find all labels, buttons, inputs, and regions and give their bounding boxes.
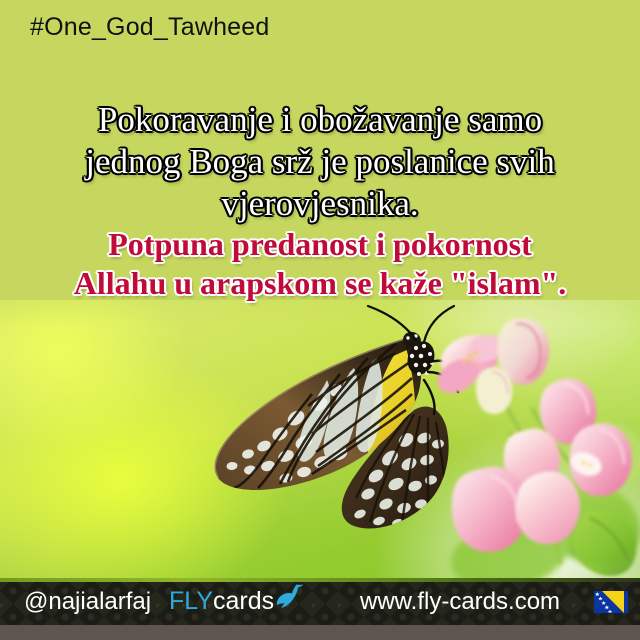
bird-icon [275,583,305,609]
bottom-strip [0,625,640,640]
quote-line-white-3: vjerovjesnika. [0,184,640,226]
flowers-image [440,312,640,580]
brand-fly-text: FLY [169,587,213,616]
flycards-logo[interactable]: FLYcards [169,587,305,616]
author-handle[interactable]: @najialarfaj [24,588,151,616]
quote-line-white-2: jednog Boga srž je poslanice svih [0,142,640,184]
website-url[interactable]: www.fly-cards.com [360,588,560,616]
quote-line-red-1: Potpuna predanost i pokornost [0,226,640,265]
quote-block: Pokoravanje i obožavanje samo jednog Bog… [0,100,640,304]
brand-cards-text: cards [213,587,274,616]
footer-bar: @najialarfaj FLYcards www.fly-cards.com [0,578,640,625]
bosnia-herzegovina-flag-icon [594,591,628,613]
quote-line-white-1: Pokoravanje i obožavanje samo [0,100,640,142]
quote-line-red-2: Allahu u arapskom se kaže "islam". [0,265,640,304]
butterfly-image [200,318,470,548]
hashtag-label: #One_God_Tawheed [30,13,270,42]
islamic-quote-card: #One_God_Tawheed Pokoravanje i obožavanj… [0,0,640,640]
